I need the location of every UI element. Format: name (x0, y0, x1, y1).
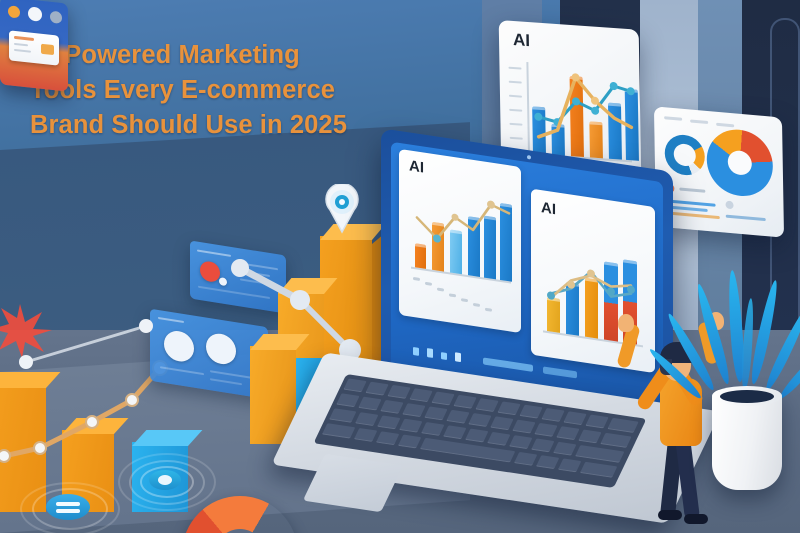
person-shoe-left (658, 510, 682, 520)
legend-swatch (725, 201, 733, 210)
legend-line (664, 116, 682, 121)
mini-card-dot-orange (8, 5, 20, 18)
target-icon-inner (158, 475, 172, 485)
webcam-icon (527, 155, 531, 160)
title-line-3: Brand Should Use in 2025 (30, 108, 390, 143)
chart-legend-dots-left (413, 277, 513, 318)
menu-icon-bars (56, 509, 80, 513)
dashboard-pane-left[interactable]: AI (399, 149, 521, 333)
plant-pot-soil (720, 390, 774, 403)
title-line-1: AI-Powered Marketing (30, 38, 390, 73)
mini-card-dot-grey (50, 11, 62, 24)
chart-overlay-lines (529, 62, 641, 161)
ai-badge-right: AI (541, 199, 556, 218)
mini-card-body (9, 30, 59, 65)
legend-line (716, 123, 734, 128)
mini-card-dot-white (28, 6, 42, 21)
floor-hotspot-menu[interactable] (20, 482, 116, 533)
chart-plot-area (529, 62, 635, 160)
legend-line (690, 119, 708, 124)
ai-badge-left: AI (409, 157, 424, 176)
menu-icon-bars (56, 502, 80, 506)
floor-hotspot-target[interactable] (118, 453, 212, 509)
page-title: AI-Powered Marketing Tools Every E-comme… (30, 38, 390, 144)
chart-plot-area-left (413, 185, 513, 282)
legend-line (726, 215, 766, 222)
chart-overlay-line-left (413, 185, 513, 282)
ai-badge: AI (513, 30, 530, 51)
menu-icon[interactable] (46, 494, 90, 520)
infographic-canvas: AI-Powered Marketing Tools Every E-comme… (0, 0, 800, 533)
floating-mini-card[interactable] (0, 0, 68, 92)
title-line-2: Tools Every E-commerce (30, 73, 390, 108)
person-hand-left (618, 314, 634, 332)
